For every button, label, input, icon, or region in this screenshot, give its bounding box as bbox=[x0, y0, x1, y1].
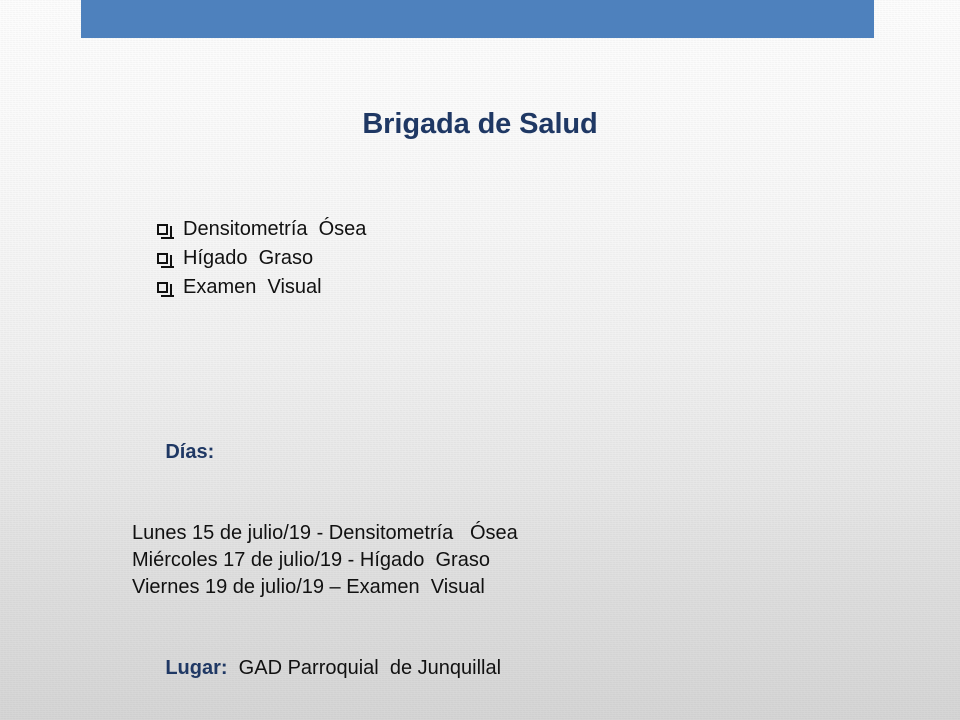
schedule-line: Viernes 19 de julio/19 – Examen Visual bbox=[132, 574, 602, 601]
place-label: Lugar: bbox=[165, 657, 227, 679]
checkbox-square-bullet-icon bbox=[155, 215, 183, 244]
details-block: Días: Lunes 15 de julio/19 - Densitometr… bbox=[132, 412, 602, 720]
place-row: Lugar: GAD Parroquial de Junquillal bbox=[132, 628, 602, 709]
checkbox-square-bullet-icon bbox=[155, 273, 183, 302]
schedule-line: Lunes 15 de julio/19 - Densitometría Óse… bbox=[132, 520, 602, 547]
header-accent-bar bbox=[81, 0, 874, 38]
list-item-label: Examen Visual bbox=[183, 273, 322, 302]
slide-canvas: Brigada de Salud Densitometría Ósea Híga… bbox=[0, 0, 960, 720]
list-item: Hígado Graso bbox=[155, 244, 575, 273]
spacer bbox=[132, 493, 602, 520]
checkbox-square-bullet-icon bbox=[155, 244, 183, 273]
services-list: Densitometría Ósea Hígado Graso Examen V… bbox=[155, 215, 575, 302]
page-title: Brigada de Salud bbox=[0, 108, 960, 141]
place-value: GAD Parroquial de Junquillal bbox=[228, 657, 501, 679]
days-heading: Días: bbox=[132, 412, 602, 493]
list-item-label: Densitometría Ósea bbox=[183, 215, 366, 244]
list-item-label: Hígado Graso bbox=[183, 244, 313, 273]
spacer bbox=[132, 601, 602, 628]
days-label: Días: bbox=[165, 441, 214, 463]
spacer bbox=[132, 709, 602, 720]
list-item: Examen Visual bbox=[155, 273, 575, 302]
schedule-line: Miércoles 17 de julio/19 - Hígado Graso bbox=[132, 547, 602, 574]
list-item: Densitometría Ósea bbox=[155, 215, 575, 244]
